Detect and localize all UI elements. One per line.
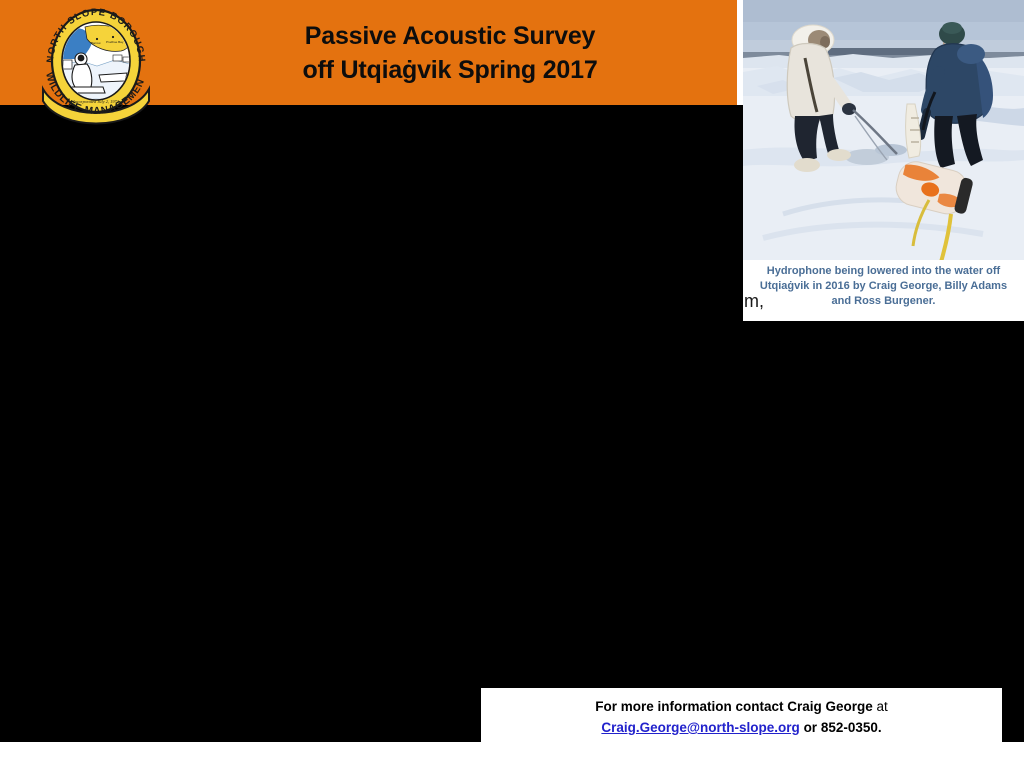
- contact-phone-text: or 852-0350.: [800, 720, 882, 735]
- clipped-text-fragment: m,: [744, 292, 764, 310]
- photo-caption-box: Hydrophone being lowered into the water …: [743, 260, 1024, 321]
- page-title: Passive Acoustic Survey off Utqiaġvik Sp…: [170, 20, 730, 88]
- slide-canvas: Passive Acoustic Survey off Utqiaġvik Sp…: [0, 0, 1024, 768]
- title-line-2: off Utqiaġvik Spring 2017: [170, 54, 730, 88]
- hydrophone-deployment-photo: [743, 0, 1024, 262]
- contact-line-1-bold: For more information contact Craig Georg…: [595, 699, 873, 714]
- svg-text:Barrow: Barrow: [91, 41, 101, 45]
- title-line-1: Passive Acoustic Survey: [170, 20, 730, 54]
- north-slope-borough-seal-logo: Barrow Prudhoe Bay: [37, 3, 155, 131]
- svg-text:Prudhoe Bay: Prudhoe Bay: [106, 40, 124, 44]
- contact-info-box: For more information contact Craig Georg…: [481, 688, 1002, 742]
- contact-line-1-light: at: [873, 699, 888, 714]
- contact-info-text: For more information contact Craig Georg…: [595, 697, 888, 739]
- contact-email-link[interactable]: Craig.George@north-slope.org: [601, 720, 799, 735]
- photo-caption-text: Hydrophone being lowered into the water …: [755, 264, 1013, 309]
